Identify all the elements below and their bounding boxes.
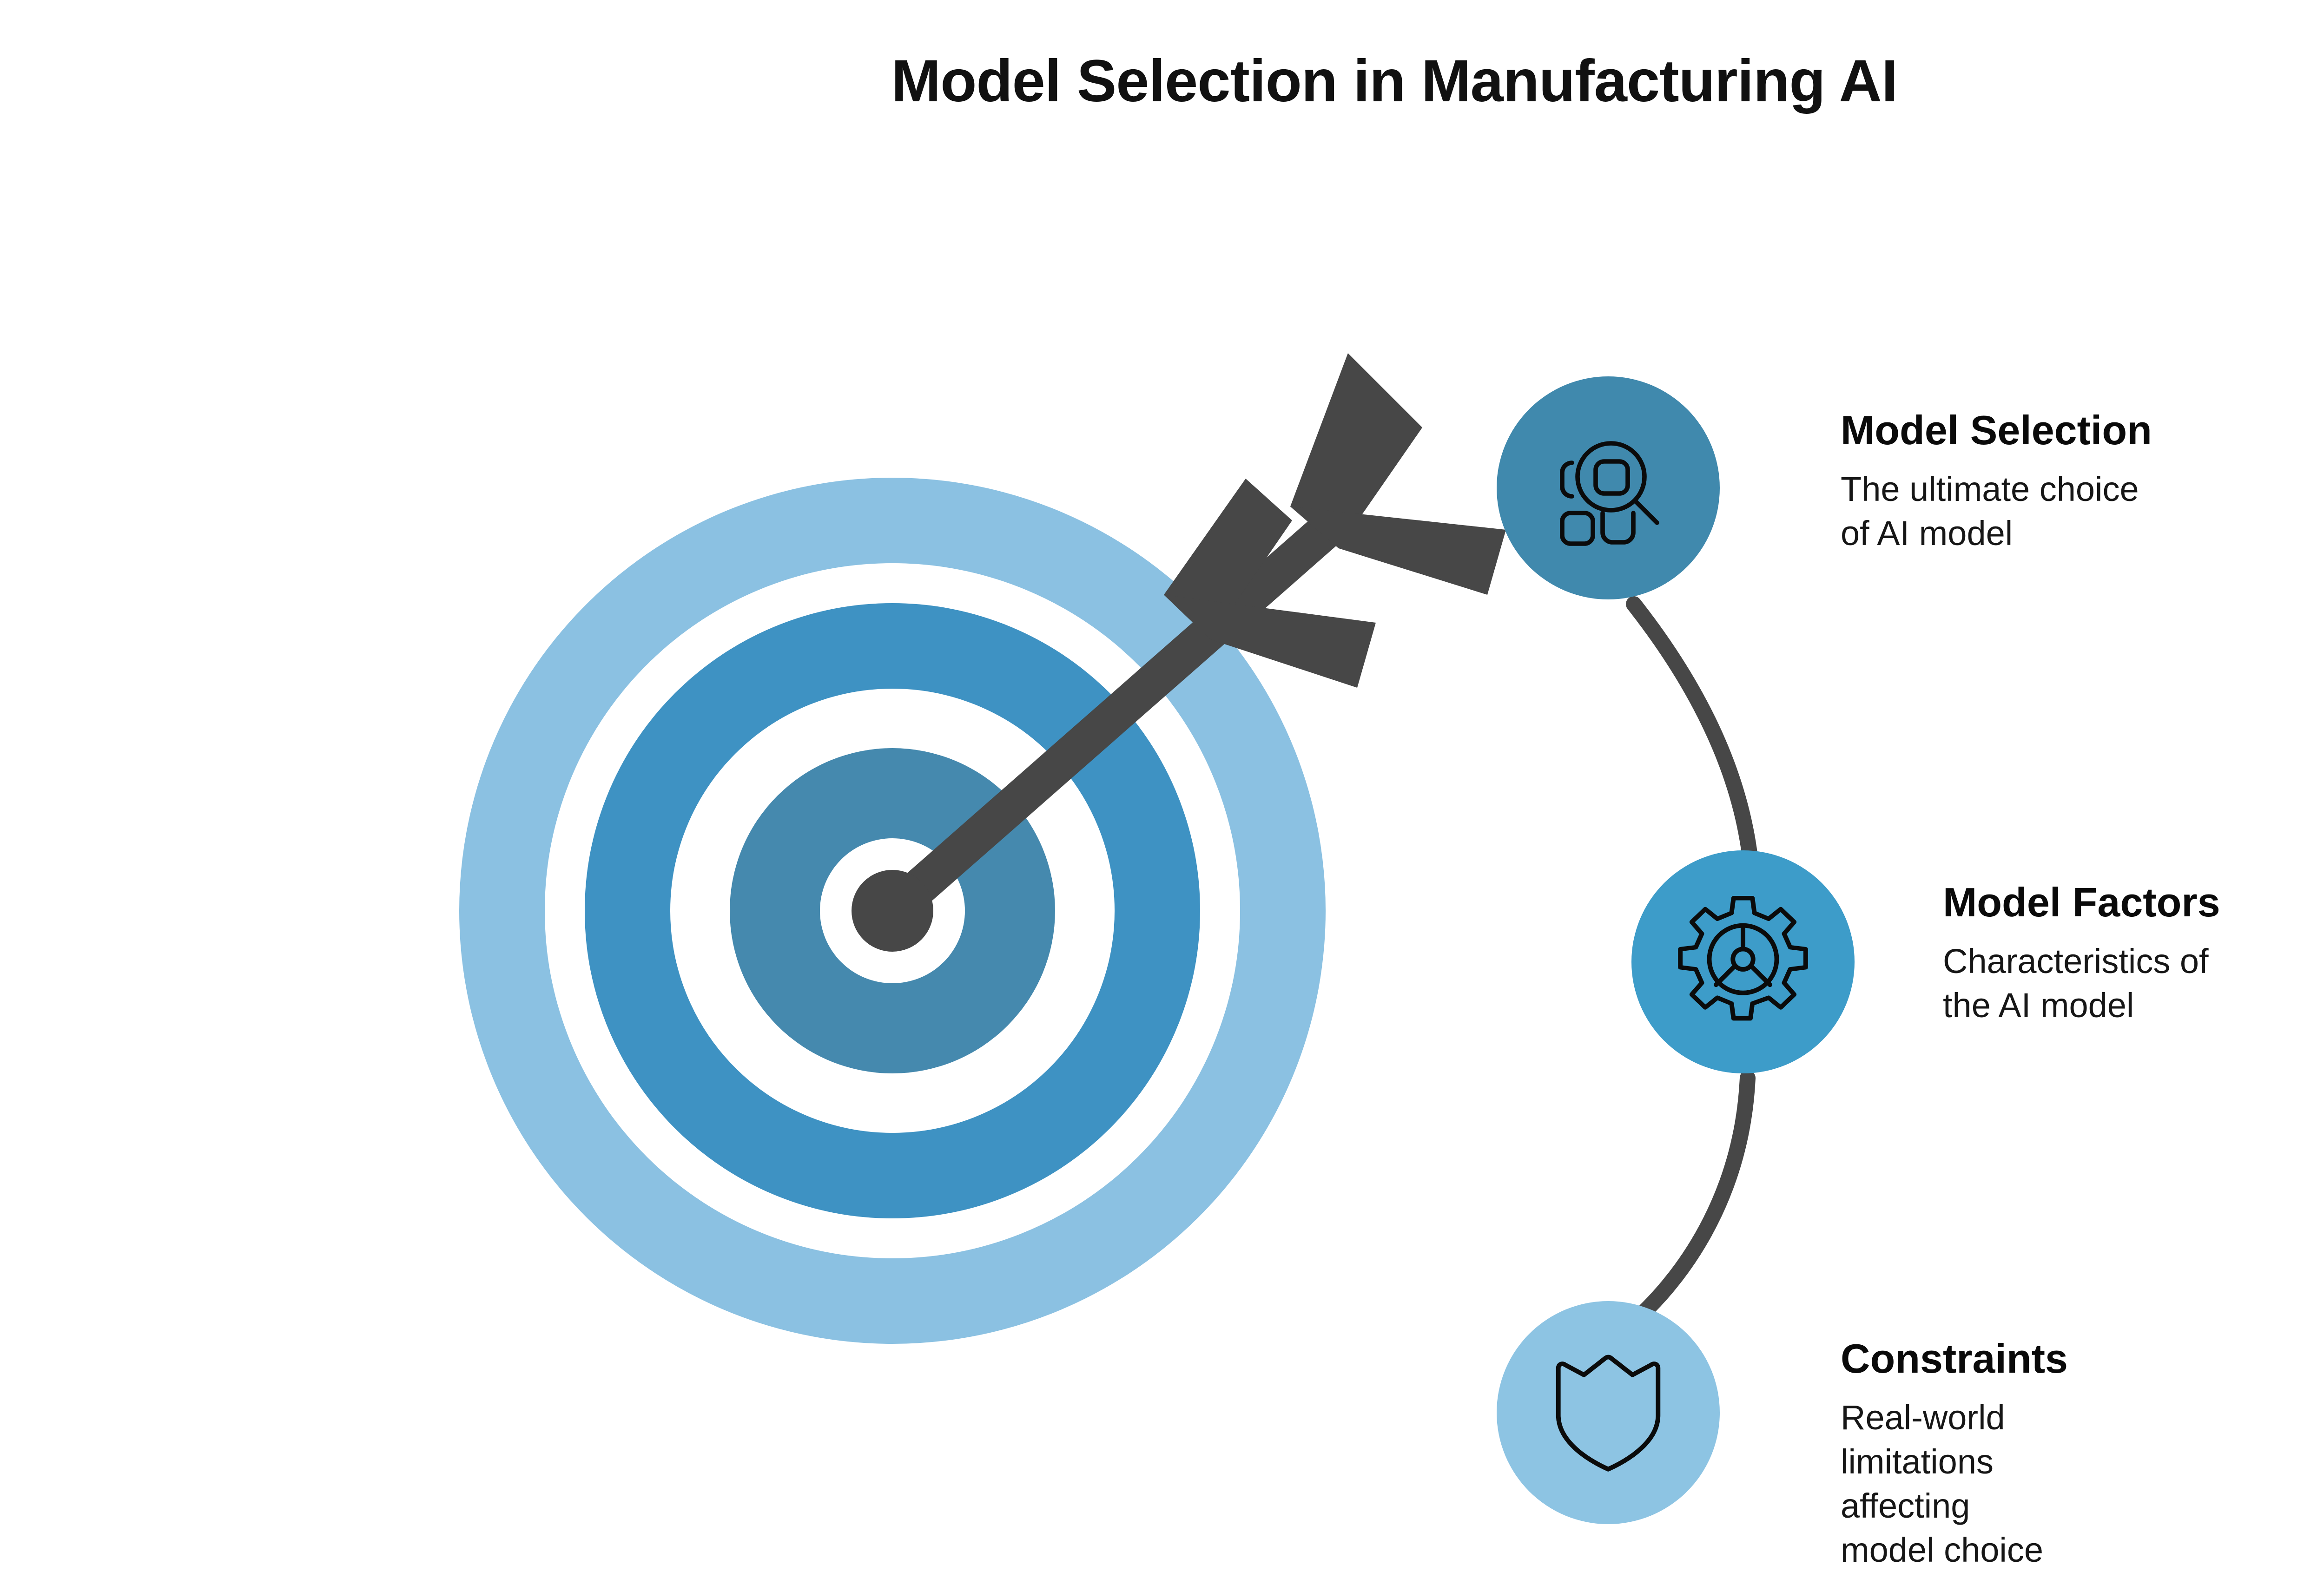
shield-icon: [1541, 1345, 1676, 1480]
gear-icon: [1676, 895, 1810, 1029]
stage-text-constraints: Constraints Real-world limitations affec…: [1841, 1337, 2068, 1572]
stage-item-model-selection[interactable]: Model Selection The ultimate choice of A…: [1497, 376, 1720, 599]
stage-text-model-selection: Model Selection The ultimate choice of A…: [1841, 409, 2152, 556]
arrow-tip-dot: [852, 870, 933, 952]
stage-item-model-factors[interactable]: Model Factors Characteristics of the AI …: [1631, 850, 1855, 1073]
magnifier-model-search-icon: [1538, 418, 1678, 558]
stage-text-model-factors: Model Factors Characteristics of the AI …: [1943, 881, 2220, 1028]
stage-column: Model Selection The ultimate choice of A…: [1450, 325, 2324, 1533]
connector-path-2-3: [1636, 1078, 1748, 1320]
target-bullseye-graphic: [409, 316, 1525, 1431]
stage-description-model-selection: The ultimate choice of AI model: [1841, 467, 2152, 555]
connector-path-1-2: [1634, 604, 1752, 883]
stage-description-model-factors: Characteristics of the AI model: [1943, 940, 2220, 1027]
stage-icon-circle-constraints[interactable]: [1497, 1301, 1720, 1524]
stage-description-constraints: Real-world limitations affecting model c…: [1841, 1396, 2068, 1572]
page-title: Model Selection in Manufacturing AI: [0, 49, 2324, 114]
stage-heading-model-factors: Model Factors: [1943, 881, 2220, 924]
stage-heading-model-selection: Model Selection: [1841, 409, 2152, 452]
stage-item-constraints[interactable]: Constraints Real-world limitations affec…: [1497, 1301, 1720, 1524]
stage-heading-constraints: Constraints: [1841, 1337, 2068, 1380]
stage-icon-circle-model-factors[interactable]: [1631, 850, 1855, 1073]
stage-icon-circle-model-selection[interactable]: [1497, 376, 1720, 599]
